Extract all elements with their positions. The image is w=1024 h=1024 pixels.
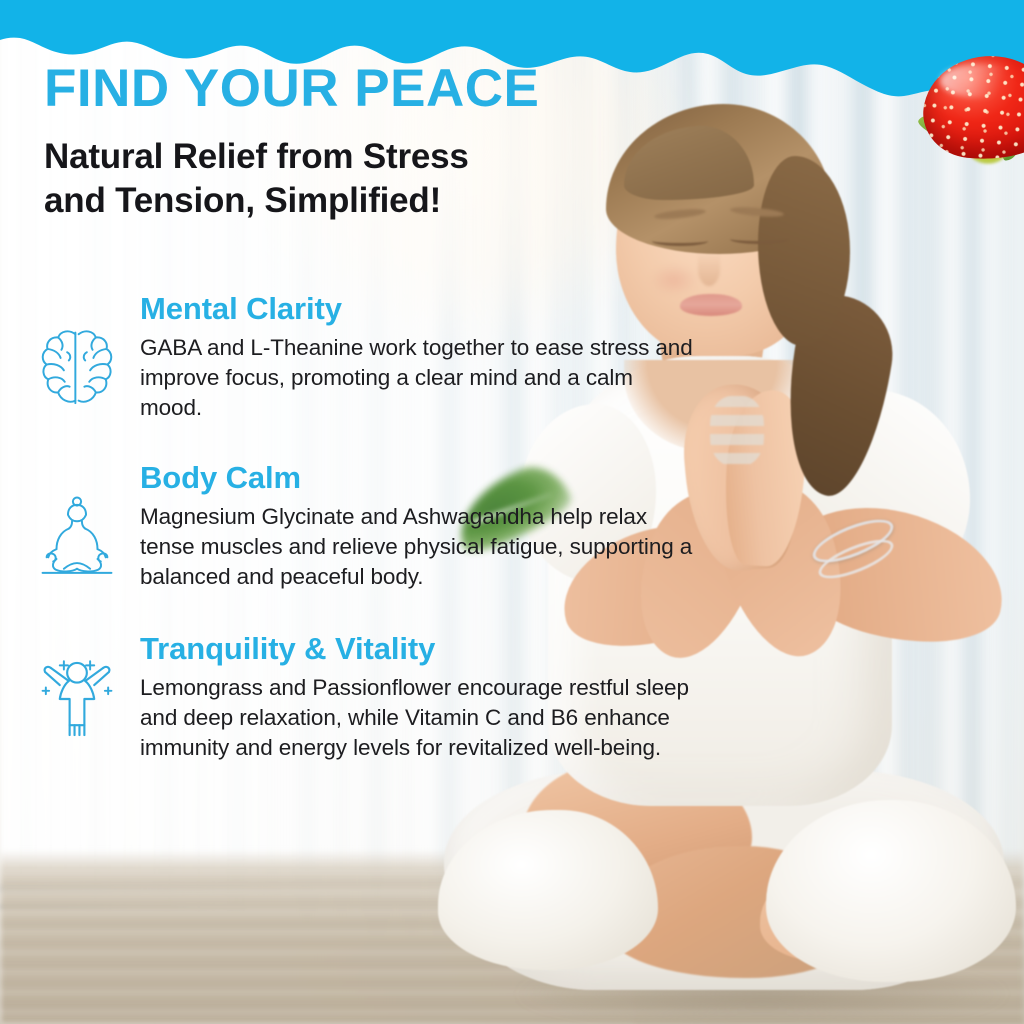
feature-text: Body Calm Magnesium Glycinate and Ashwag… bbox=[140, 461, 696, 592]
feature-title: Body Calm bbox=[140, 461, 696, 495]
poster-canvas: FIND YOUR PEACE Natural Relief from Stre… bbox=[0, 0, 1024, 1024]
page-title: FIND YOUR PEACE bbox=[44, 62, 539, 115]
feature-item-body-calm: Body Calm Magnesium Glycinate and Ashwag… bbox=[36, 461, 696, 592]
feature-title: Mental Clarity bbox=[140, 292, 696, 326]
feature-list: Mental Clarity GABA and L-Theanine work … bbox=[36, 292, 696, 789]
poster-content: FIND YOUR PEACE Natural Relief from Stre… bbox=[0, 0, 1024, 1024]
feature-item-tranquility-vitality: Tranquility & Vitality Lemongrass and Pa… bbox=[36, 632, 696, 763]
feature-text: Tranquility & Vitality Lemongrass and Pa… bbox=[140, 632, 696, 763]
page-subtitle: Natural Relief from Stress and Tension, … bbox=[44, 135, 469, 223]
person-arms-raised-sparkles-icon bbox=[36, 656, 118, 742]
feature-description: Magnesium Glycinate and Ashwagandha help… bbox=[140, 502, 696, 592]
feature-title: Tranquility & Vitality bbox=[140, 632, 696, 666]
brain-icon bbox=[36, 324, 118, 410]
feature-item-mental-clarity: Mental Clarity GABA and L-Theanine work … bbox=[36, 292, 696, 423]
feature-description: Lemongrass and Passionflower encourage r… bbox=[140, 673, 696, 763]
page-subtitle-line-2: and Tension, Simplified! bbox=[44, 179, 469, 223]
page-subtitle-line-1: Natural Relief from Stress bbox=[44, 137, 469, 176]
feature-description: GABA and L-Theanine work together to eas… bbox=[140, 333, 696, 423]
feature-text: Mental Clarity GABA and L-Theanine work … bbox=[140, 292, 696, 423]
meditating-person-icon bbox=[36, 493, 118, 579]
